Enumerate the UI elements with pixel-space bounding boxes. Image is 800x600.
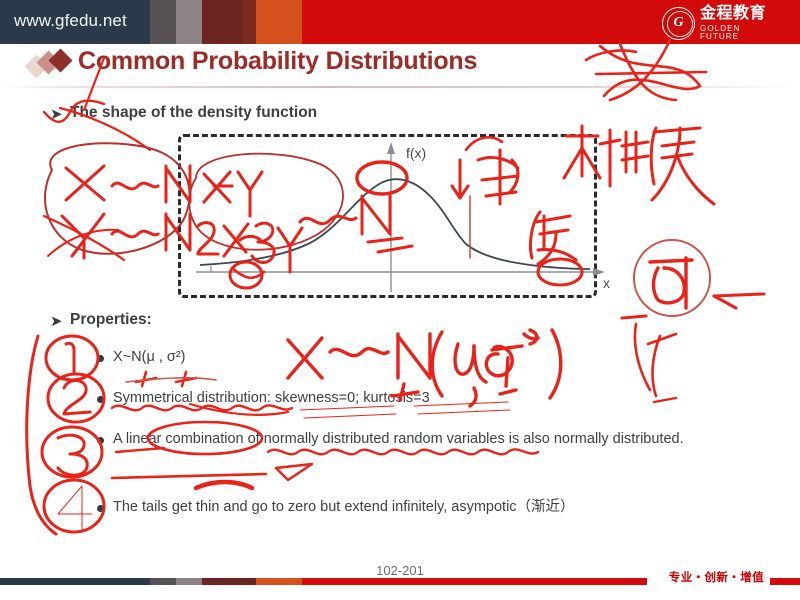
density-curve	[200, 179, 590, 269]
y-axis-arrow-icon	[387, 142, 395, 154]
brand-logo: G 金程教育 GOLDEN FUTURE	[662, 4, 782, 42]
ink-right-stroke	[635, 324, 650, 390]
ink-underline-prop3b	[112, 474, 266, 478]
section2-heading: Properties:	[70, 311, 152, 329]
y-axis-label: f(x)	[406, 145, 426, 161]
ink-right-arrow-low	[714, 296, 736, 308]
footer-band-gray-2	[176, 578, 202, 585]
ink-circled-1	[46, 336, 98, 380]
ink-left-bracket	[27, 336, 56, 534]
ink-number-1	[66, 343, 74, 374]
ink-squiggle-prop3	[268, 449, 538, 454]
bullet-dot-1	[97, 355, 104, 362]
section2-arrow-icon: ➤	[50, 312, 63, 330]
logo-notch	[630, 44, 800, 50]
header-band-maroon	[202, 0, 242, 44]
footer-band-navy	[0, 578, 150, 585]
footer-band-red-2	[770, 578, 800, 585]
header-band-orange	[256, 0, 302, 44]
bullet-dot-3	[97, 437, 104, 444]
footer-band-orange	[256, 578, 302, 585]
seal-icon: G	[662, 7, 695, 40]
ink-y-tilde-n-bottom	[62, 214, 190, 258]
footer-band-gray	[150, 578, 176, 585]
property-item-3: A linear combination of normally distrib…	[113, 430, 725, 449]
ink-number-3	[58, 435, 87, 475]
ink-cn-ke	[650, 258, 692, 308]
ink-number-2	[64, 381, 90, 415]
section1-arrow-icon: ➤	[50, 105, 63, 123]
logo-name-en: GOLDEN FUTURE	[700, 25, 782, 41]
bullet-dot-2	[97, 396, 104, 403]
ink-circled-4	[44, 480, 104, 532]
slide-canvas: www.gfedu.net G 金程教育 GOLDEN FUTURE Commo…	[0, 0, 800, 600]
title-divider	[0, 86, 800, 88]
footer-band-maroon	[202, 578, 256, 585]
ink-stroke-prop4	[196, 482, 252, 488]
density-chart: f(x) x	[178, 132, 618, 307]
ink-underline-right	[622, 316, 646, 318]
ink-right-stroke-4	[654, 398, 676, 402]
header-band-maroon-2	[242, 0, 256, 44]
logo-name-cn: 金程教育	[700, 6, 782, 22]
ink-left-strike	[44, 216, 124, 260]
property-item-4: The tails get thin and go to zero but ex…	[113, 498, 753, 517]
ink-x-tilde-n-top	[66, 166, 190, 202]
header-band-gray-2	[176, 0, 202, 44]
ink-right-stroke-2	[648, 334, 676, 344]
property-item-2: Symmetrical distribution: skewness=0; ku…	[113, 389, 583, 408]
site-url[interactable]: www.gfedu.net	[14, 11, 127, 31]
ink-prop1-marks	[126, 372, 216, 386]
seal-monogram: G	[663, 8, 694, 39]
ink-right-stroke-3	[653, 336, 660, 396]
x-axis-label: x	[603, 275, 610, 291]
header-band-gray	[150, 0, 176, 44]
ink-triangle-mark	[276, 464, 312, 480]
page-title: Common Probability Distributions	[78, 47, 477, 76]
property-item-1: X~N(μ , σ²)	[113, 348, 443, 367]
ink-right-big-circle	[634, 240, 710, 316]
ink-right-arrow-top	[714, 294, 764, 296]
footer-band-red	[302, 578, 647, 585]
ink-circled-3	[42, 427, 102, 477]
ink-left-strike-2	[48, 230, 118, 256]
ink-left-ellipse	[45, 143, 190, 253]
ink-circled-2	[48, 374, 104, 422]
slide-header: www.gfedu.net G 金程教育 GOLDEN FUTURE	[0, 0, 800, 44]
bullet-dot-4	[97, 505, 104, 512]
section1-heading: The shape of the density function	[70, 104, 317, 122]
density-chart-svg: f(x) x	[178, 132, 618, 307]
footer-tagline: 专业・创新・增值	[669, 569, 764, 585]
